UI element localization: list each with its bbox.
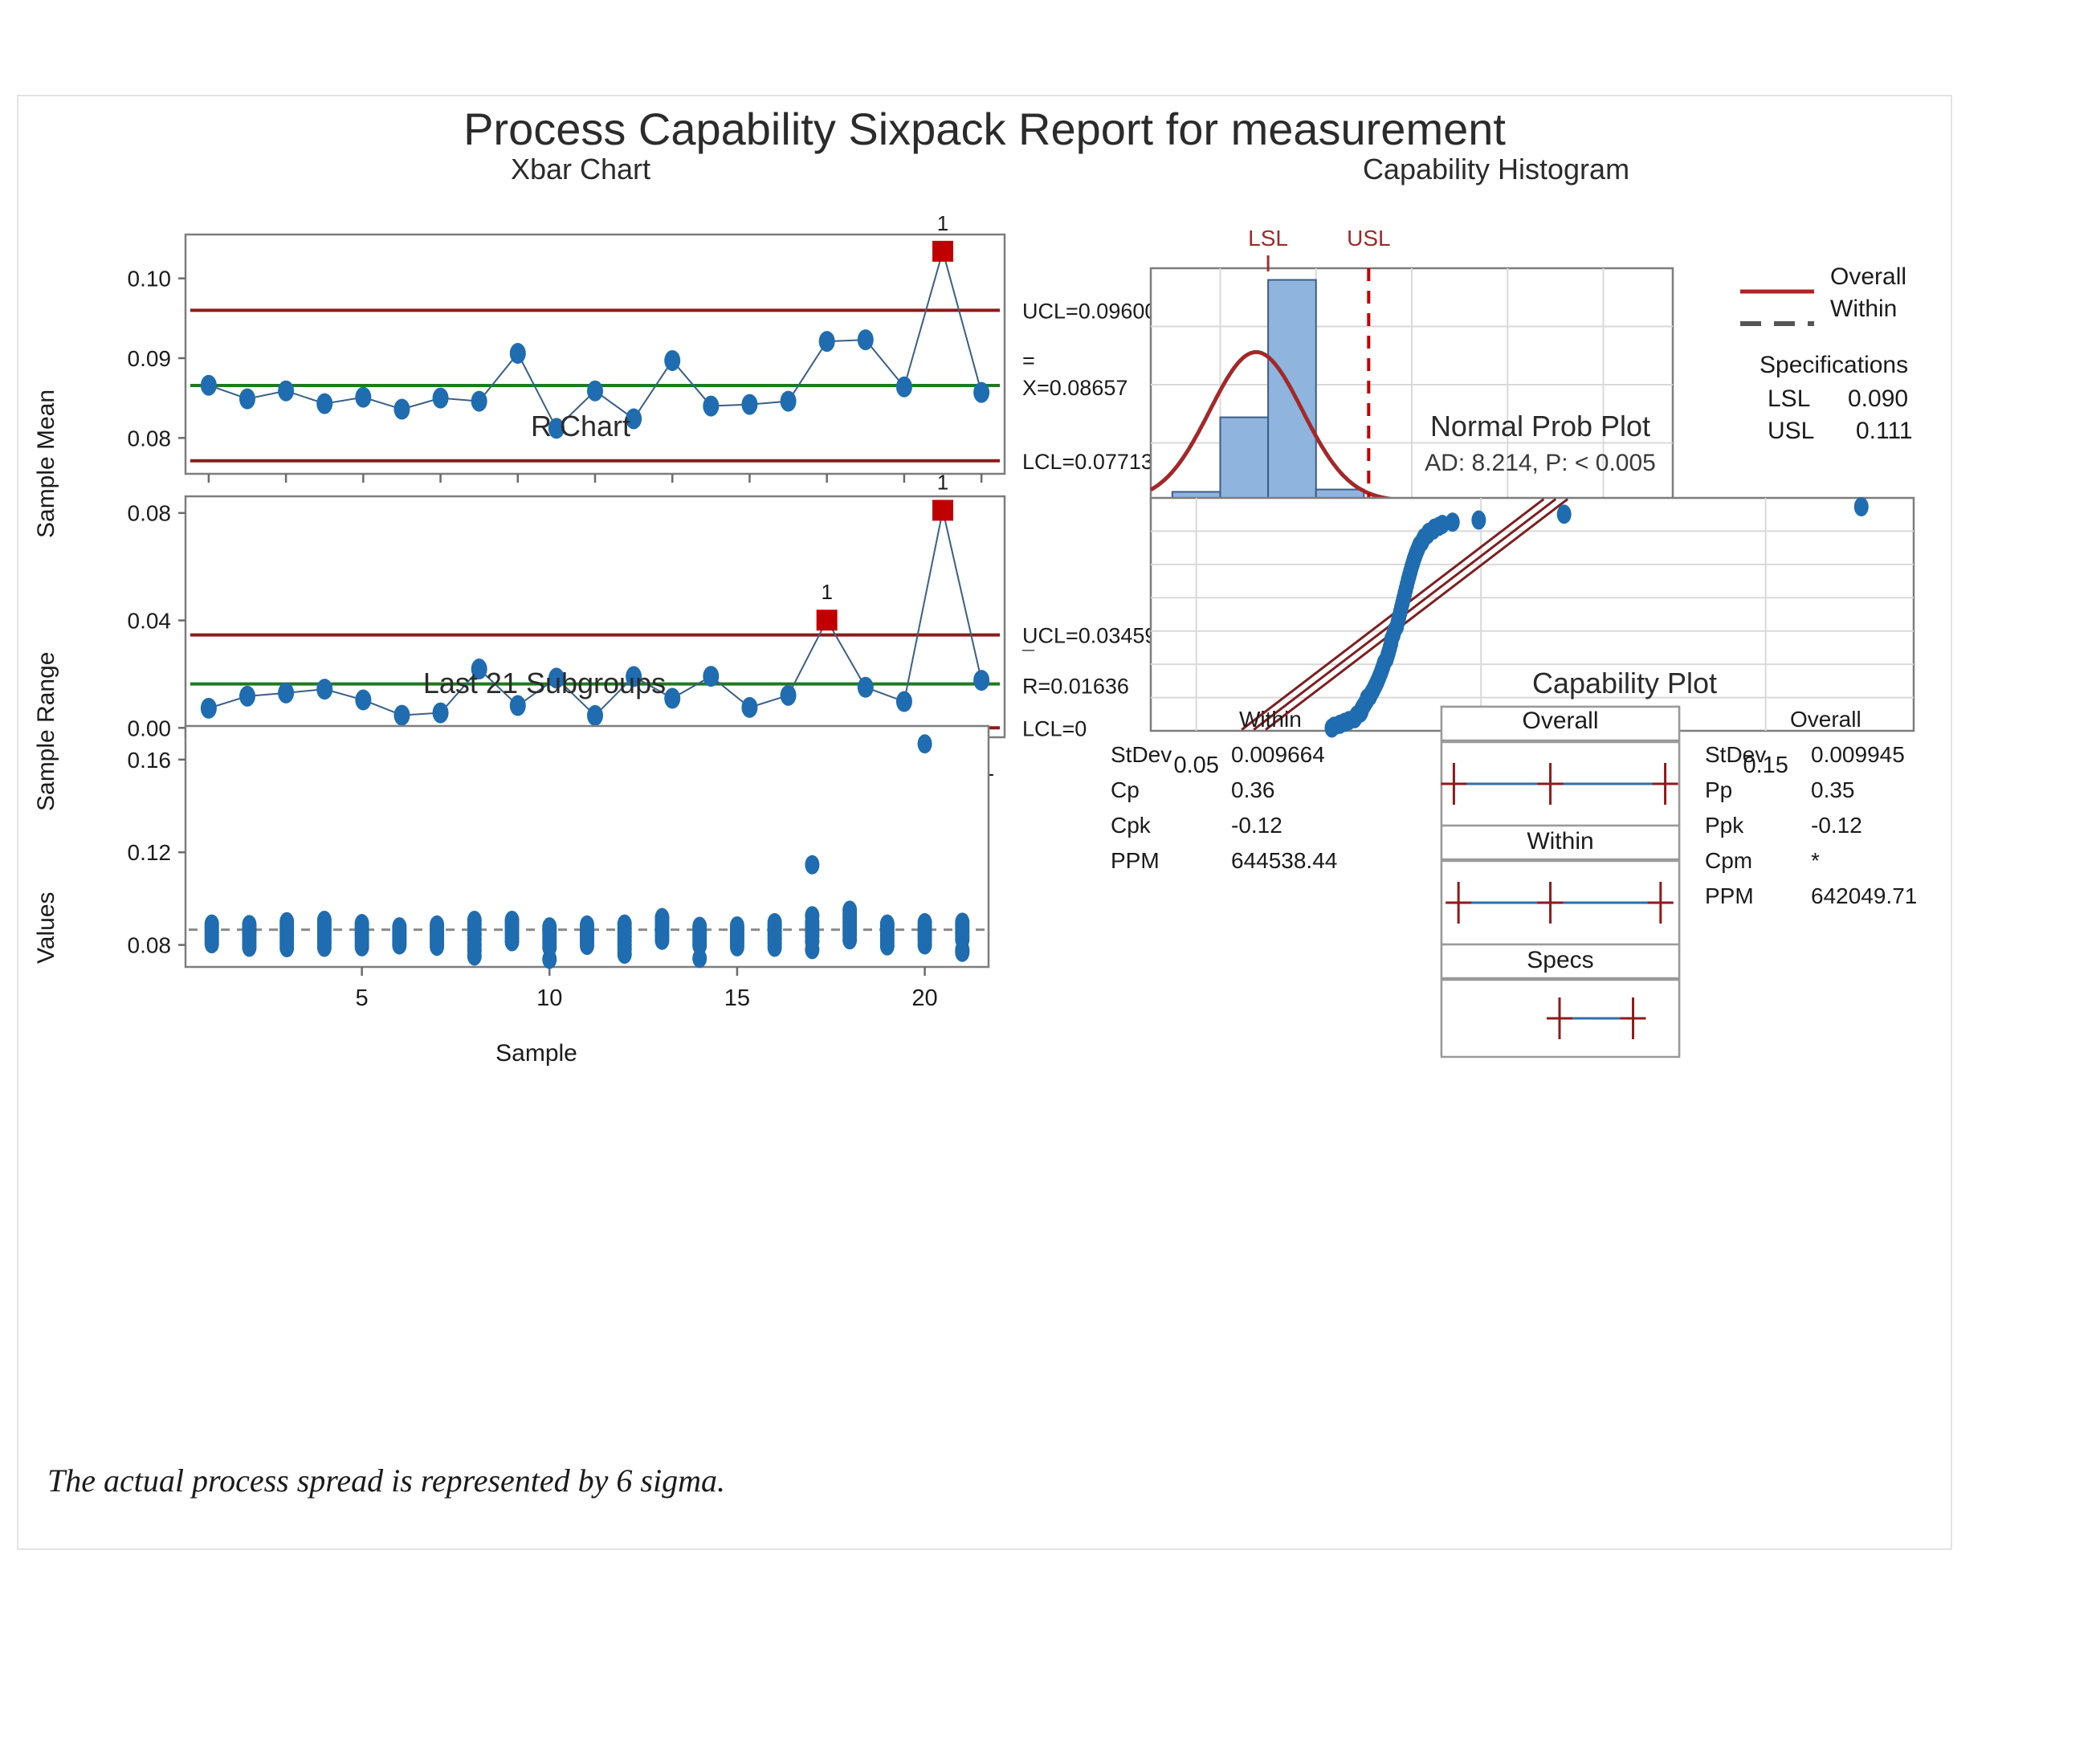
xbar-data-point xyxy=(781,391,797,412)
last-subgroups-data-point xyxy=(542,917,557,936)
xbar-center-bar-glyph: = xyxy=(1022,349,1035,373)
last-subgroups-x-tick-label: 5 xyxy=(356,985,369,1011)
overall-stat-label-2: Ppk xyxy=(1705,813,1743,838)
xbar-violation-label: 1 xyxy=(937,211,948,235)
rchart-y-tick-label: 0.04 xyxy=(128,609,172,634)
page-title: Process Capability Sixpack Report for me… xyxy=(18,103,1951,155)
last-subgroups-data-point xyxy=(505,911,520,930)
xbar-violation-marker xyxy=(932,241,953,262)
overall-stat-value-1: 0.35 xyxy=(1811,777,1855,803)
last-subgroups-x-tick-label: 15 xyxy=(724,985,750,1011)
spec-label-lsl: LSL xyxy=(1248,226,1288,251)
capability-row-within-label: Within xyxy=(1441,829,1679,855)
xbar-data-point xyxy=(587,381,603,402)
last-subgroups-x-tick-label: 20 xyxy=(911,985,937,1011)
within-stat-value-1: 0.36 xyxy=(1231,777,1275,803)
xbar-data-point xyxy=(896,377,912,398)
last-subgroups-data-point xyxy=(918,734,932,753)
rchart-violation-marker xyxy=(817,610,838,630)
spec-row-lsl-value: 0.090 xyxy=(1848,385,1908,413)
overall-stat-value-2: -0.12 xyxy=(1811,813,1862,838)
within-stat-label-2: Cpk xyxy=(1111,813,1151,838)
subgroups-x-axis-label: Sample xyxy=(83,1040,990,1067)
within-stat-label-1: Cp xyxy=(1111,777,1140,803)
spec-label-usl: USL xyxy=(1347,226,1390,251)
last-subgroups-y-tick-label: 0.12 xyxy=(128,840,172,865)
capability-row-overall-label: Overall xyxy=(1441,708,1679,734)
xbar-data-point xyxy=(858,329,874,350)
last-subgroups-data-point xyxy=(467,911,482,930)
xbar-data-point xyxy=(973,382,989,403)
xbar-y-tick-label: 0.10 xyxy=(128,267,172,292)
rchart-y-tick-label: 0.08 xyxy=(128,501,172,526)
last-subgroups-data-point xyxy=(768,913,782,932)
last-subgroups-data-point xyxy=(205,915,219,934)
r-y-axis-label: Sample Range xyxy=(33,652,60,811)
last-subgroups-data-point xyxy=(317,911,332,930)
legend-label-overall: Overall xyxy=(1830,263,1906,291)
xbar-data-point xyxy=(819,331,835,352)
xbar-data-point xyxy=(239,389,255,410)
last-subgroups-data-point xyxy=(618,915,632,934)
overall-stat-value-0: 0.009945 xyxy=(1811,742,1905,768)
overall-stat-label-4: PPM xyxy=(1705,883,1754,909)
last-subgroups-data-point xyxy=(392,917,406,936)
normal-prob-data-point xyxy=(1557,504,1572,524)
normal-prob-data-point xyxy=(1446,512,1460,532)
xbar-data-point xyxy=(355,387,371,408)
last-subgroups-data-point xyxy=(880,915,895,934)
report-frame: Process Capability Sixpack Report for me… xyxy=(17,95,1952,1550)
last-subgroups-data-point xyxy=(955,912,969,932)
xbar-center-label: X=0.08657 xyxy=(1022,376,1127,400)
xbar-data-point xyxy=(201,375,217,396)
last-subgroups-data-point xyxy=(805,906,819,925)
last-subgroups-x-tick-label: 10 xyxy=(536,985,562,1011)
last-subgroups-y-tick-label: 0.08 xyxy=(128,933,172,958)
last-subgroups-data-point xyxy=(692,917,707,936)
xbar-data-point xyxy=(433,388,449,409)
last-subgroups-data-point xyxy=(242,915,256,934)
normal-prob-title: Normal Prob Plot xyxy=(1135,410,1946,443)
normal-prob-x-tick-label: 0.05 xyxy=(1173,753,1218,778)
xbar-y-tick-label: 0.09 xyxy=(128,346,172,371)
last-subgroups-data-point xyxy=(279,912,294,932)
overall-stat-label-0: StDev xyxy=(1705,742,1766,768)
rchart-violation-marker xyxy=(932,500,953,520)
rchart-violation-label: 1 xyxy=(937,470,948,494)
last-subgroups-data-point xyxy=(430,916,444,935)
overall-stat-value-4: 642049.71 xyxy=(1811,883,1917,909)
footnote-text: The actual process spread is represented… xyxy=(47,1462,725,1499)
rchart-center-bar-glyph: ¯ xyxy=(1021,647,1035,671)
within-stat-value-3: 644538.44 xyxy=(1231,848,1337,874)
within-stat-value-0: 0.009664 xyxy=(1231,742,1325,768)
capability-row-specs-label: Specs xyxy=(1441,948,1679,973)
subgroups-plot-svg: 0.160.120.085101520 xyxy=(83,691,1046,1036)
xbar-data-point xyxy=(278,381,294,402)
overall-stat-label-3: Cpm xyxy=(1705,848,1752,874)
spec-row-lsl-label: LSL xyxy=(1768,385,1810,413)
specifications-heading: Specifications xyxy=(1760,352,1908,379)
overall-stat-value-3: * xyxy=(1811,848,1820,874)
last-subgroups-data-point xyxy=(805,855,819,875)
last-subgroups-y-tick-label: 0.16 xyxy=(128,748,172,773)
xbar-data-point xyxy=(510,343,526,364)
subgroups-y-axis-label: Values xyxy=(33,891,60,964)
within-stat-label-3: PPM xyxy=(1111,848,1160,874)
last-subgroups-data-point xyxy=(730,916,744,936)
last-subgroups-data-point xyxy=(654,908,669,928)
normal-prob-data-point xyxy=(1471,511,1486,530)
normal-prob-data-point xyxy=(1854,497,1869,516)
overall-stats-heading: Overall xyxy=(1790,707,1861,732)
last-subgroups-data-point xyxy=(355,914,369,933)
xbar-data-point xyxy=(471,391,487,412)
rchart-violation-label: 1 xyxy=(821,580,832,604)
capability-plot-svg xyxy=(1440,705,1681,1058)
last-subgroups-data-point xyxy=(842,900,857,920)
normal-prob-subtitle: AD: 8.214, P: < 0.005 xyxy=(1135,450,1946,477)
xbar-y-axis-label: Sample Mean xyxy=(33,390,60,538)
last-subgroups-data-point xyxy=(918,913,932,932)
within-stat-label-0: StDev xyxy=(1111,742,1172,768)
capability-plot-title: Capability Plot xyxy=(1303,667,1946,700)
histogram-title: Capability Histogram xyxy=(1135,153,1857,186)
overall-stat-label-1: Pp xyxy=(1705,777,1732,803)
xbar-data-point xyxy=(664,350,680,371)
within-stat-value-2: -0.12 xyxy=(1231,813,1282,838)
legend-label-within: Within xyxy=(1830,296,1897,323)
last-subgroups-data-point xyxy=(580,916,594,935)
within-stats-heading: Within xyxy=(1239,707,1302,732)
